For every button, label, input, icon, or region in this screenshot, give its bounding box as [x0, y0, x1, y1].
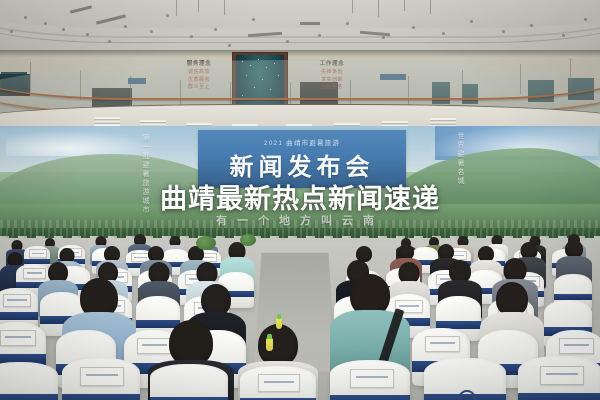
potted-plant	[196, 236, 216, 250]
banner-title: 新闻发布会	[198, 147, 406, 182]
chair	[240, 366, 316, 400]
chair	[518, 356, 600, 400]
overlay-headline: 曲靖最新热点新闻速递	[0, 186, 600, 213]
chair	[330, 360, 410, 400]
water-bottle	[266, 338, 273, 351]
water-bottle	[276, 318, 282, 329]
chair	[62, 358, 140, 400]
chair	[424, 358, 506, 400]
chair	[0, 362, 58, 400]
chair	[150, 364, 228, 400]
press-conference-banner: 2021 曲靖市避暑旅游 新闻发布会	[198, 130, 406, 188]
banner-subtitle: 2021 曲靖市避暑旅游	[198, 137, 406, 147]
screenshot-canvas: 服务理念 诚信高效 优质服务 群众至上 工作理念 先锋争创 求实创新 为民服务	[0, 0, 600, 400]
potted-plant	[240, 234, 256, 246]
backdrop-cloud-left	[6, 130, 156, 156]
backdrop-bottom-text: 有一个地方叫云南	[0, 212, 600, 228]
